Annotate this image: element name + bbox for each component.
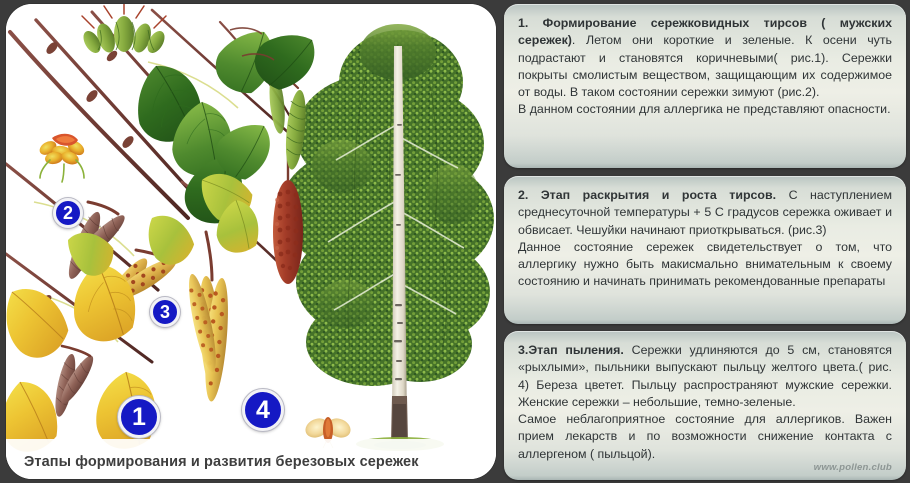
stage-badge-1-label: 1 — [132, 405, 146, 430]
stage-panel-1: 1. Формирование сережковидных тирсов ( м… — [504, 4, 906, 168]
illustration-panel: 1 2 3 4 Этапы формирования и развития бе… — [6, 4, 496, 479]
stage-3-heading: Этап пыления. — [528, 343, 624, 357]
stage-panel-1-text: 1. Формирование сережковидных тирсов ( м… — [518, 15, 892, 101]
stage-panel-2: 2. Этап раскрытия и роста тирсов. С наст… — [504, 176, 906, 324]
stage-2-tail: Данное состояние сережек свидетельствует… — [518, 239, 892, 291]
stage-1-body: . Летом они короткие и зеленые. К осени … — [518, 33, 892, 99]
stage-badge-4-label: 4 — [256, 398, 270, 423]
stage-panel-3-text: 3.Этап пыления. Сережки удлиняются до 5 … — [518, 342, 892, 411]
stage-3-number: 3. — [518, 343, 528, 357]
site-watermark: www.pollen.club — [814, 462, 892, 473]
stage-3-tail: Самое неблагоприятное состояние для алле… — [518, 411, 892, 463]
stage-panel-2-text: 2. Этап раскрытия и роста тирсов. С наст… — [518, 187, 892, 239]
stage-1-number: 1. — [518, 16, 543, 30]
stage-2-heading: Этап раскрытия и роста тирсов. — [541, 188, 776, 202]
illustration-caption: Этапы формирования и развития березовых … — [24, 454, 419, 470]
stage-badge-2-label: 2 — [63, 204, 73, 222]
stage-badge-2[interactable]: 2 — [53, 198, 83, 228]
stage-badge-1[interactable]: 1 — [118, 396, 160, 438]
stage-badge-3-label: 3 — [160, 303, 170, 321]
stage-2-number: 2. — [518, 188, 541, 202]
stage-panel-3: 3.Этап пыления. Сережки удлиняются до 5 … — [504, 331, 906, 480]
stage-badge-4[interactable]: 4 — [242, 389, 284, 431]
stage-badge-3[interactable]: 3 — [150, 297, 180, 327]
stage-1-tail: В данном состоянии для аллергика не пред… — [518, 101, 892, 118]
infographic-root: 1 2 3 4 Этапы формирования и развития бе… — [0, 0, 910, 483]
stage-description-panels: 1. Формирование сережковидных тирсов ( м… — [504, 4, 906, 480]
